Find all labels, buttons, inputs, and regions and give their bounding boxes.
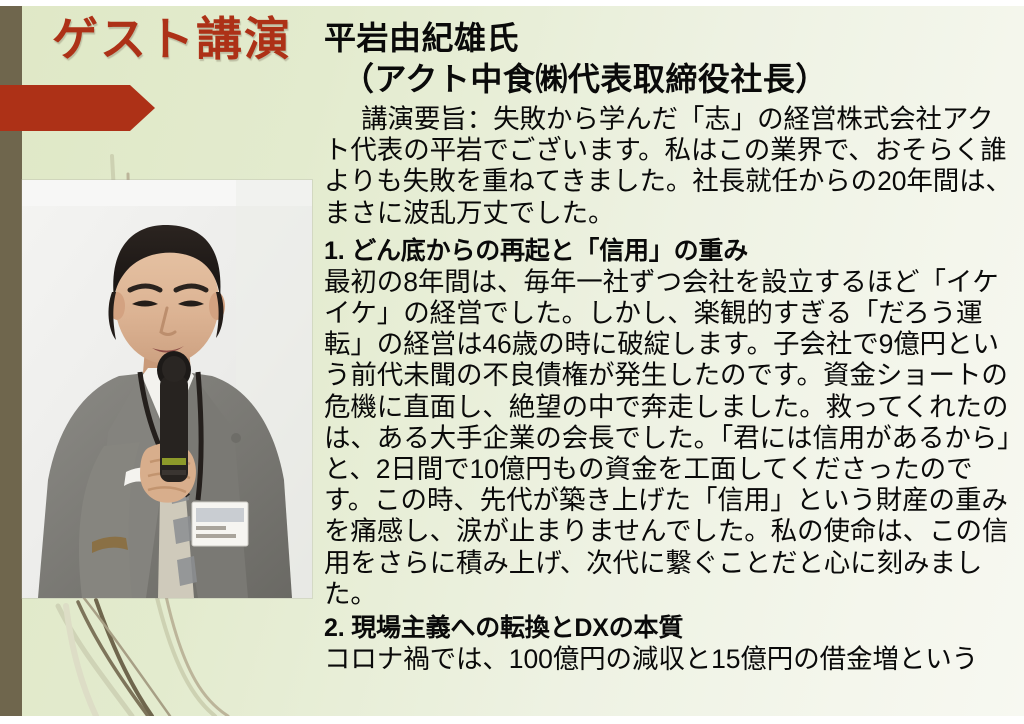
speaker-photo bbox=[22, 180, 312, 598]
presentation-slide: ゲスト講演 bbox=[0, 0, 1024, 724]
slide-text-column: 平岩由紀雄氏 （アクト中食㈱代表取締役社長） 講演要旨：失敗から学んだ「志」の経… bbox=[324, 18, 1014, 718]
section-2-body: コロナ禍では、100億円の減収と15億円の借金増という bbox=[324, 644, 1014, 675]
section-2-heading: 2. 現場主義への転換とDXの本質 bbox=[324, 613, 1014, 644]
speaker-company-title: （アクト中食㈱代表取締役社長） bbox=[342, 59, 1014, 100]
section-1-heading: 1. どん底からの再起と「信用」の重み bbox=[324, 236, 1014, 267]
speaker-name: 平岩由紀雄氏 bbox=[324, 18, 1014, 59]
lecture-abstract-paragraph: 講演要旨：失敗から学んだ「志」の経営株式会社アクト代表の平岩でございます。私はこ… bbox=[324, 104, 1014, 229]
paragraph-spacer bbox=[324, 229, 1014, 233]
guest-lecture-badge: ゲスト講演 bbox=[52, 14, 292, 66]
section-1-body: 最初の8年間は、毎年一社ずつ会社を設立するほど「イケイケ」の経営でした。しかし、… bbox=[324, 267, 1014, 610]
red-arrow-banner-icon bbox=[0, 85, 155, 131]
speaker-photo-image bbox=[22, 180, 312, 598]
